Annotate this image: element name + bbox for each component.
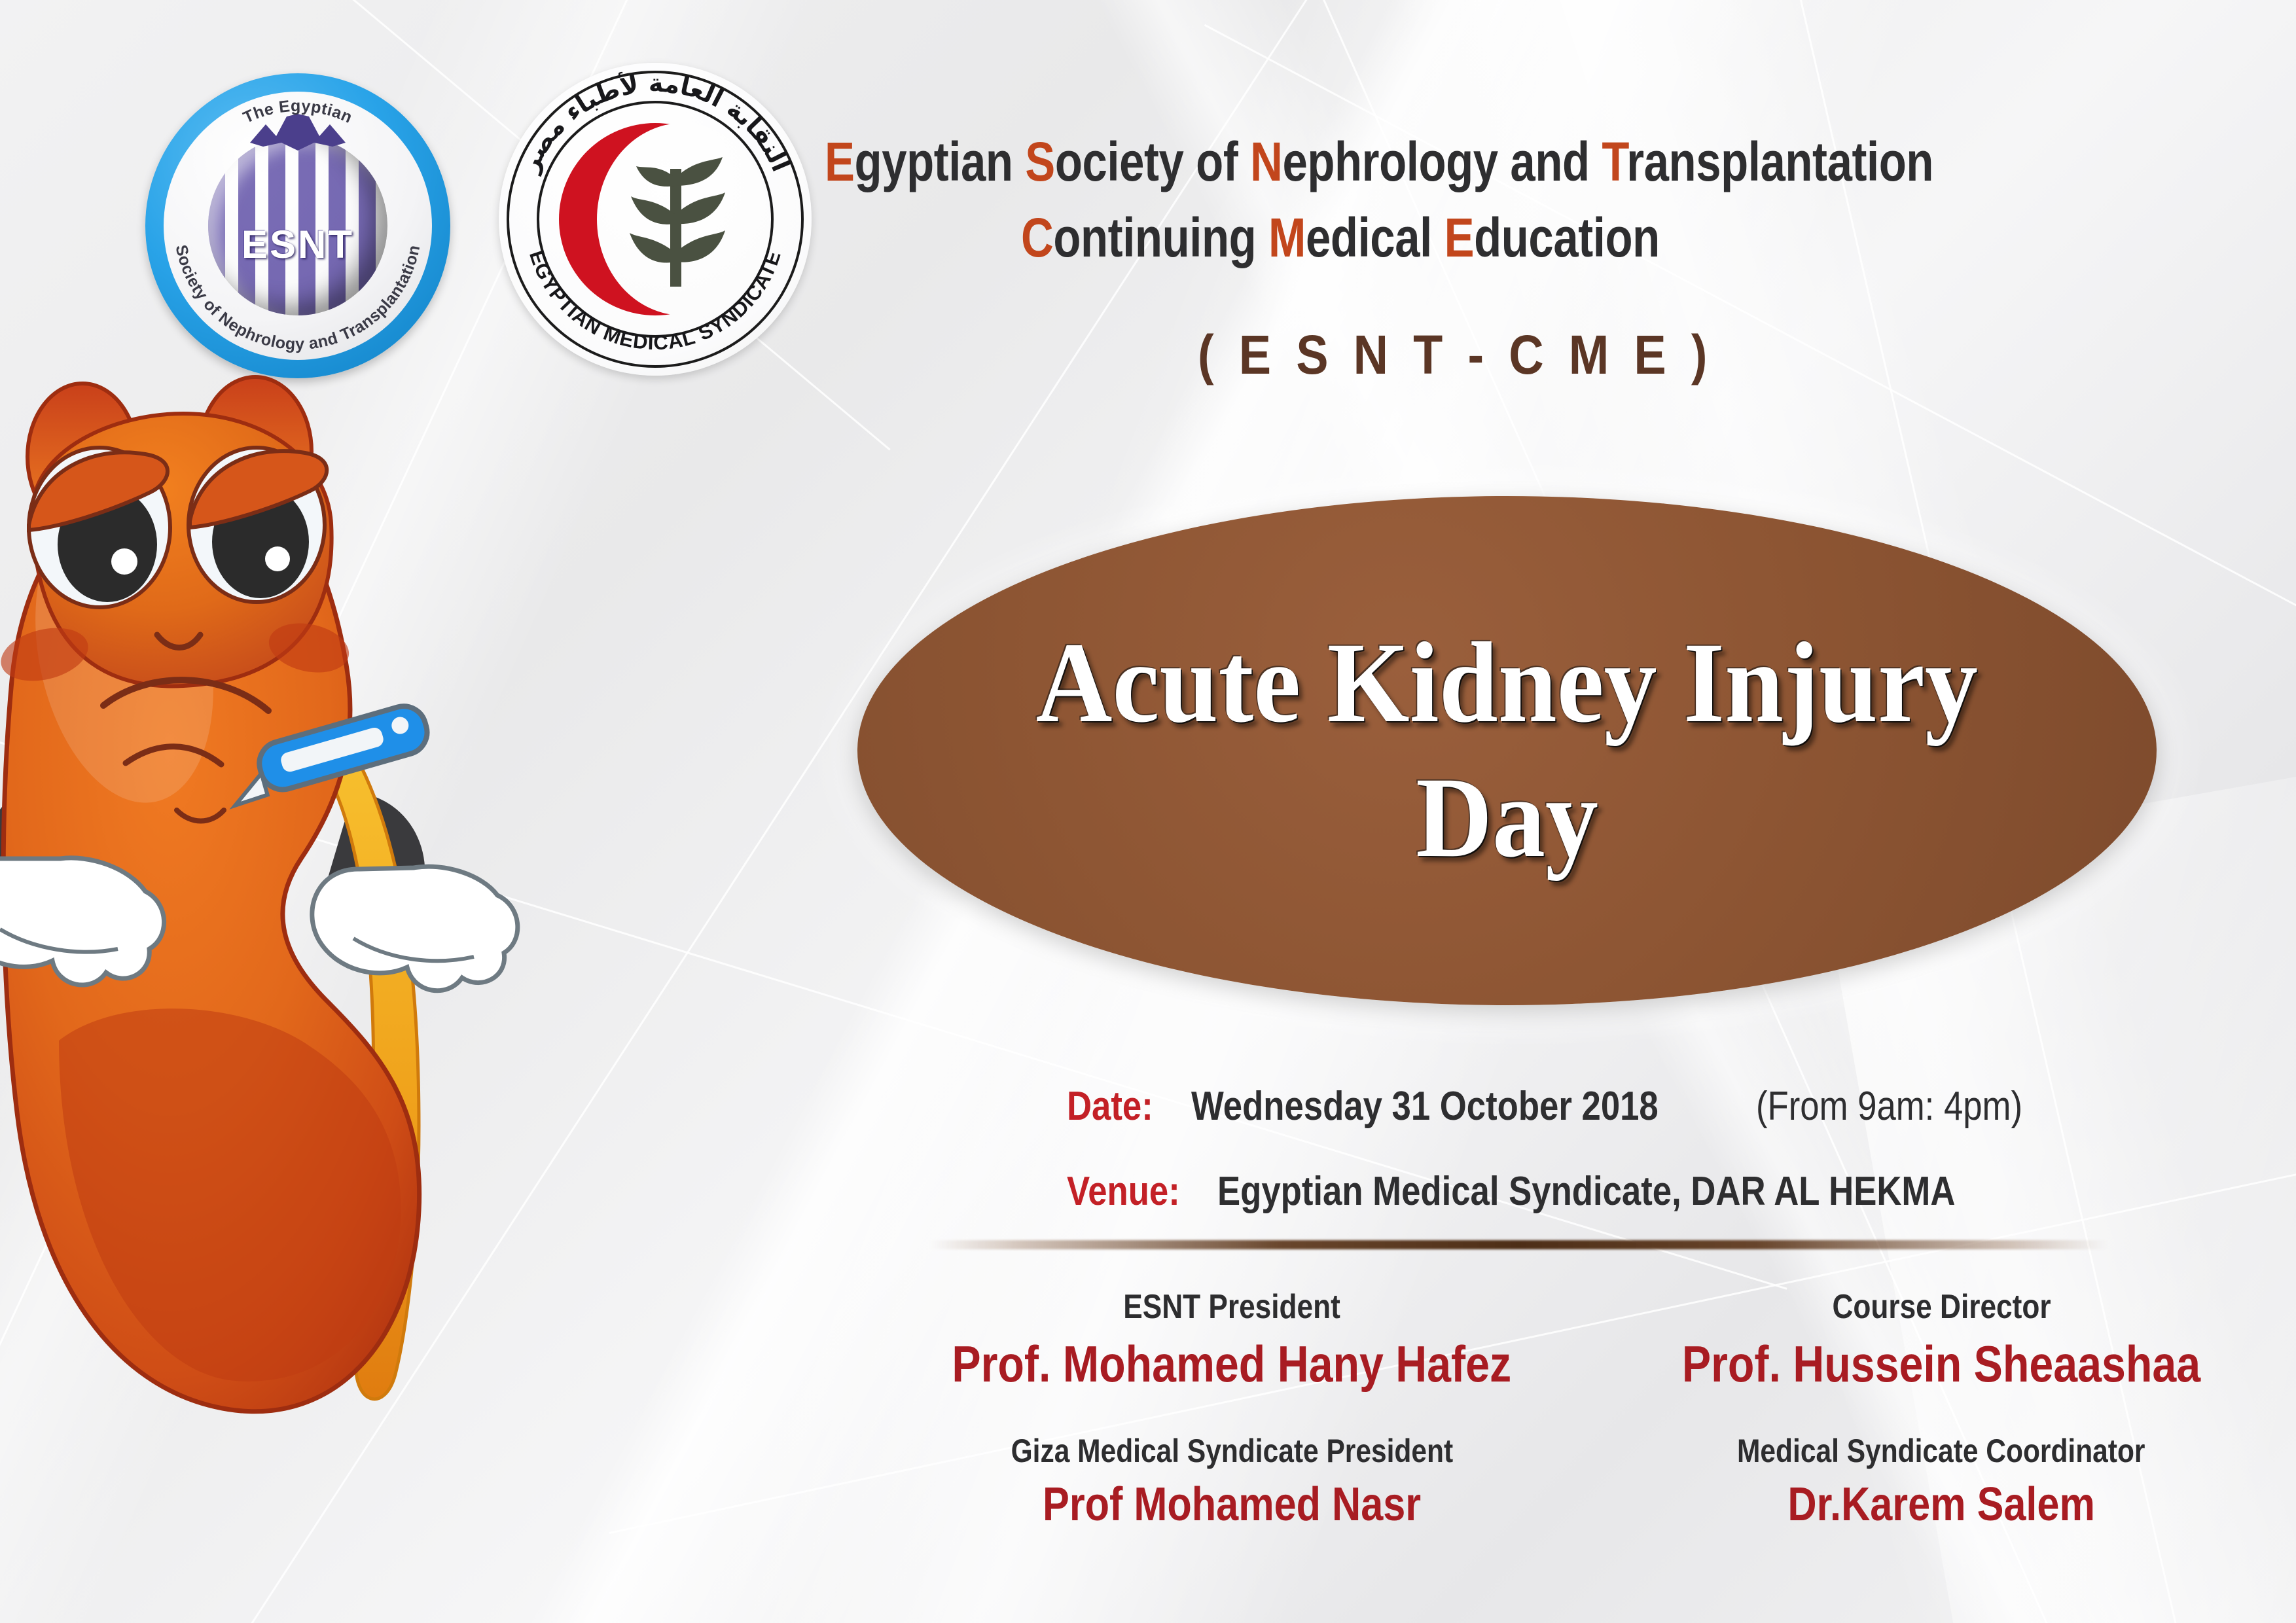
esnt-logo: ESNT The Egyptian Society of Nephrology … [145,73,450,378]
person-name: Prof. Mohamed Hany Hafez [952,1332,1512,1397]
header-text-run: ransplantation [1626,131,1933,192]
header-text-run: ociety of [1055,131,1250,192]
svg-text:EGYPTIAN MEDICAL SYNDICATE: EGYPTIAN MEDICAL SYNDICATE [525,247,785,354]
header-initial-cap: T [1602,131,1626,192]
poster-canvas: ESNT The Egyptian Society of Nephrology … [0,0,2296,1623]
svg-text:Society of Nephrology and Tran: Society of Nephrology and Transplantatio… [172,243,424,353]
header-initial-cap: N [1250,131,1282,192]
person-role: Giza Medical Syndicate President [1011,1431,1453,1472]
header-text-run: ducation [1474,207,1660,268]
header-initial-cap: E [1444,207,1475,268]
person-giza-syndicate-president: Giza Medical Syndicate President Prof Mo… [877,1431,1587,1535]
header-text-run: ontinuing [1053,207,1268,268]
people-section: ESNT President Prof. Mohamed Hany Hafez … [877,1286,2296,1534]
esnt-ring-text: The Egyptian Society of Nephrology and T… [145,73,450,378]
header-text-run: ephrology and [1282,131,1602,192]
title-ellipse: Acute Kidney Injury Day [857,496,2157,1005]
header-line-1: Egyptian Society of Nephrology and Trans… [825,128,2005,195]
header-text-run: gyptian [855,131,1026,192]
ems-english-label: EGYPTIAN MEDICAL SYNDICATE [525,247,785,354]
header-initial-cap: M [1268,207,1306,268]
venue-label: Venue: [1067,1171,1180,1212]
person-role: Medical Syndicate Coordinator [1737,1431,2145,1472]
person-esnt-president: ESNT President Prof. Mohamed Hany Hafez [877,1286,1587,1397]
organization-header: Egyptian Society of Nephrology and Trans… [825,128,2265,272]
section-divider [929,1240,2108,1249]
ems-arc-text: النقابة العامة لأطباء مصر EGYPTIAN MEDIC… [499,63,812,376]
event-title-line-2: Day [1416,759,1598,877]
header-initial-cap: S [1025,131,1055,192]
header-initial-cap: E [825,131,855,192]
egyptian-medical-syndicate-logo: النقابة العامة لأطباء مصر EGYPTIAN MEDIC… [499,63,812,376]
person-course-director: Course Director Prof. Hussein Sheaashaa [1587,1286,2296,1397]
organization-acronym: ( E S N T - C M E ) [1198,327,1713,382]
person-name: Prof Mohamed Nasr [1043,1475,1421,1534]
esnt-ring-text-bottom: Society of Nephrology and Transplantatio… [172,243,424,353]
people-row-2: Giza Medical Syndicate President Prof Mo… [877,1431,2296,1535]
date-row: Date: Wednesday 31 October 2018 (From 9a… [1067,1086,2069,1127]
people-row-1: ESNT President Prof. Mohamed Hany Hafez … [877,1286,2296,1397]
venue-row: Venue: Egyptian Medical Syndicate, DAR A… [1067,1171,2086,1212]
person-syndicate-coordinator: Medical Syndicate Coordinator Dr.Karem S… [1587,1431,2296,1535]
person-name: Dr.Karem Salem [1787,1475,2094,1534]
ems-arabic-label: النقابة العامة لأطباء مصر [514,69,795,177]
person-name: Prof. Hussein Sheaashaa [1682,1332,2200,1397]
svg-text:النقابة العامة لأطباء مصر: النقابة العامة لأطباء مصر [514,69,795,177]
svg-text:The Egyptian: The Egyptian [240,97,355,127]
header-initial-cap: C [1021,207,1053,268]
person-role: Course Director [1832,1286,2051,1329]
header-text-run: edical [1306,207,1444,268]
event-title-line-1: Acute Kidney Injury [1036,624,1978,742]
date-time-range: (From 9am: 4pm) [1756,1086,2022,1127]
header-line-2: Continuing Medical Education [1021,204,2041,271]
venue-value: Egyptian Medical Syndicate, DAR AL HEKMA [1217,1171,1955,1212]
kidney-mascot-illustration [0,373,851,1623]
person-role: ESNT President [1123,1286,1340,1329]
right-glove-icon [312,866,518,991]
sick-kidney-mascot [0,373,851,1623]
date-value: Wednesday 31 October 2018 [1191,1086,1659,1127]
esnt-ring-text-top: The Egyptian [240,97,355,127]
date-label: Date: [1067,1086,1153,1127]
